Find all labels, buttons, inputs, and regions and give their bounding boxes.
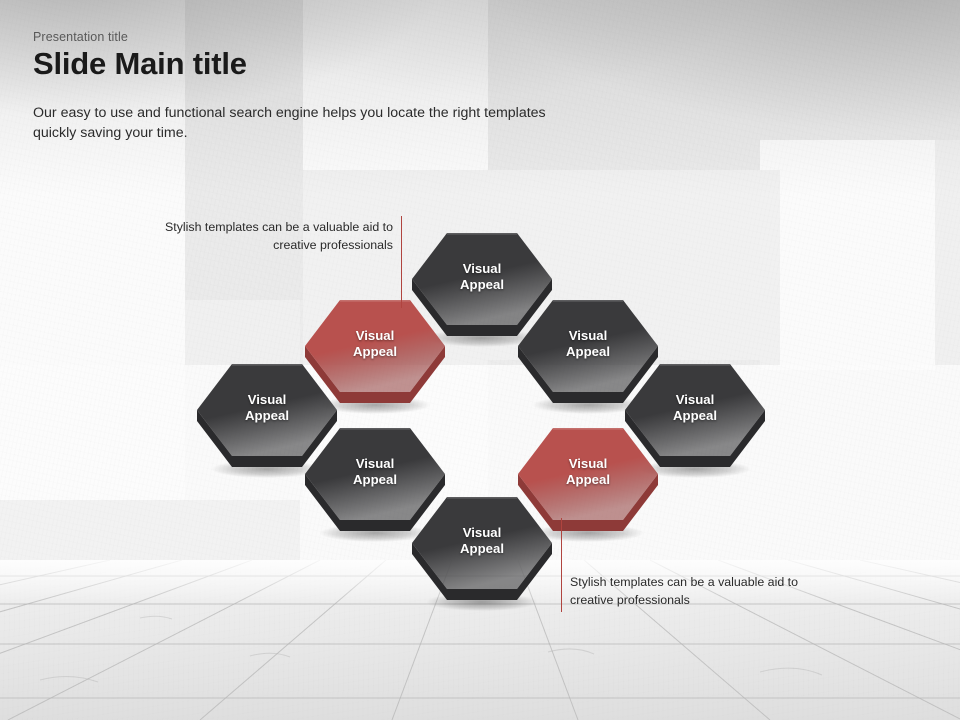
hexagon-shape bbox=[412, 497, 552, 610]
callout-bottom: Stylish templates can be a valuable aid … bbox=[570, 574, 832, 610]
leader-line-top bbox=[401, 216, 402, 308]
leader-line-bottom bbox=[561, 518, 562, 612]
hexagon-diagram: VisualAppealVisualAppealVisualAppealVisu… bbox=[0, 0, 960, 720]
callout-top: Stylish templates can be a valuable aid … bbox=[131, 219, 393, 255]
hex-bottom[interactable]: VisualAppeal bbox=[412, 497, 552, 600]
slide-canvas: Presentation title Slide Main title Our … bbox=[0, 0, 960, 720]
